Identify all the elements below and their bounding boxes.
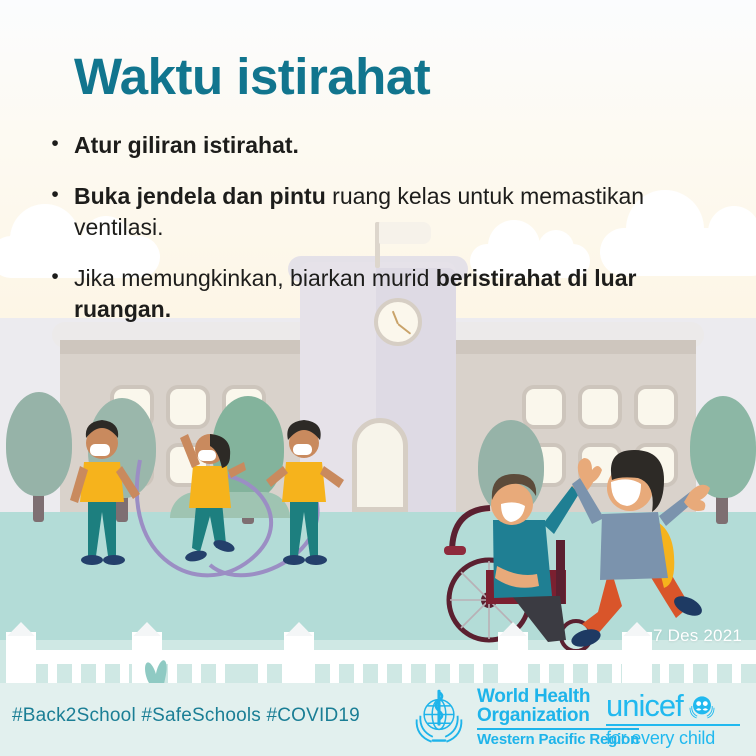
bullet-marker: •	[36, 130, 74, 161]
bullet-bold-lead: Buka jendela dan pintu	[74, 183, 326, 209]
who-emblem-icon	[408, 686, 470, 748]
list-item: • Jika memungkinkan, biarkan murid beris…	[36, 263, 726, 325]
list-item: • Buka jendela dan pintu ruang kelas unt…	[36, 181, 726, 243]
hashtags: #Back2School #SafeSchools #COVID19	[12, 705, 360, 727]
page-title: Waktu istirahat	[74, 51, 430, 102]
unicef-tagline: for every child	[606, 728, 740, 749]
fence-rail	[212, 650, 632, 664]
unicef-emblem-icon	[687, 691, 717, 721]
bullet-text: Buka jendela dan pintu ruang kelas untuk…	[74, 181, 726, 243]
unicef-divider	[606, 724, 740, 726]
fence-post	[498, 632, 528, 688]
who-logo: World Health Organization Western Pacifi…	[408, 686, 639, 748]
bullet-bold-lead: Atur giliran istirahat.	[74, 132, 299, 158]
fence-post	[284, 632, 314, 688]
bullet-text: Atur giliran istirahat.	[74, 130, 299, 161]
bullet-regular: Jika memungkinkan, biarkan murid	[74, 265, 436, 291]
poster-canvas: Waktu istirahat • Atur giliran istirahat…	[0, 0, 756, 756]
unicef-wordmark: unicef	[606, 690, 683, 721]
bullet-list: • Atur giliran istirahat. • Buka jendela…	[36, 130, 726, 345]
child-jumping-with-backpack	[569, 450, 710, 650]
unicef-logo: unicef for every child	[606, 690, 740, 749]
date-label: 7 Des 2021	[653, 626, 742, 646]
bullet-marker: •	[36, 181, 74, 243]
list-item: • Atur giliran istirahat.	[36, 130, 726, 161]
child-holding-rope-left	[70, 420, 140, 565]
child-in-wheelchair	[444, 474, 594, 651]
fence-post	[6, 632, 36, 688]
bullet-marker: •	[36, 263, 74, 325]
child-jumping-rope	[180, 434, 246, 563]
fence-post	[622, 632, 652, 688]
bullet-text: Jika memungkinkan, biarkan murid beristi…	[74, 263, 726, 325]
unicef-top-row: unicef	[606, 690, 740, 721]
